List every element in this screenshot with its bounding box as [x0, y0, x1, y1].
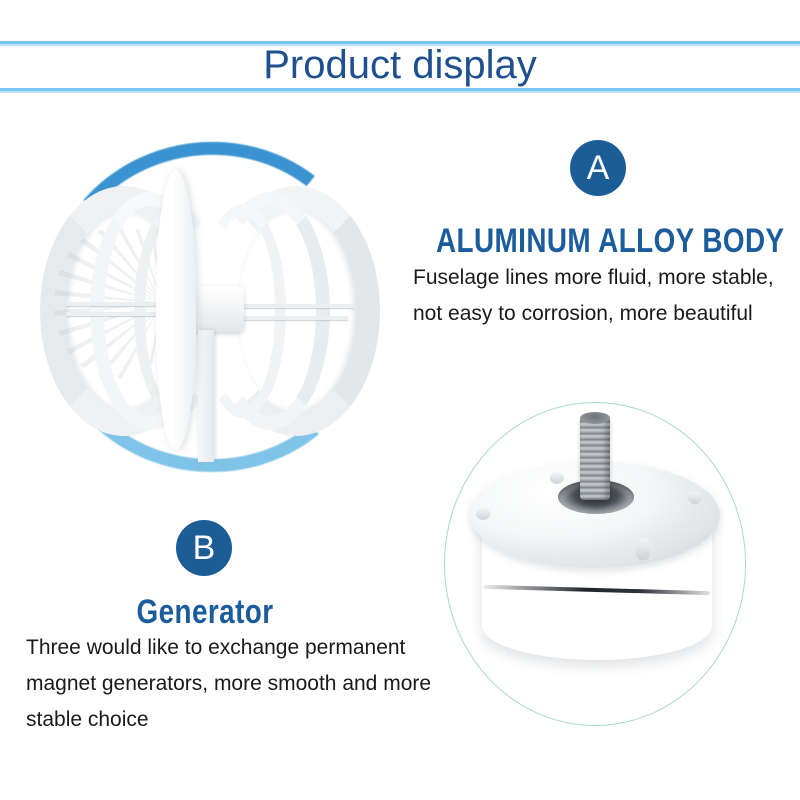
- generator-threaded-shaft: [580, 416, 610, 500]
- badge-a: A: [570, 140, 626, 196]
- feature-a-body-line-2: not easy to corrosion, more beautiful: [413, 302, 753, 326]
- page-title: Product display: [0, 42, 800, 89]
- feature-section-a: A ALUMINUM ALLOY BODY Fuselage lines mor…: [400, 130, 800, 350]
- turbine-blade-front: [156, 170, 196, 450]
- generator-shaft-top: [580, 412, 610, 424]
- wind-turbine-image: [38, 158, 382, 458]
- feature-section-b: B Generator Three would like to exchange…: [0, 500, 460, 750]
- feature-b-body-line-3: stable choice: [26, 708, 149, 732]
- generator-rib-tab: [688, 492, 702, 504]
- feature-a-heading: ALUMINUM ALLOY BODY: [436, 222, 764, 261]
- feature-b-heading: Generator: [37, 593, 373, 632]
- turbine-mast: [198, 330, 214, 462]
- feature-b-body-line-1: Three would like to exchange permanent: [26, 636, 405, 660]
- generator-rib-tab: [550, 472, 564, 484]
- page-header: Product display: [0, 0, 800, 110]
- header-rule-bottom-glow: [0, 91, 800, 93]
- turbine-hub: [188, 286, 244, 332]
- generator-figure: [420, 380, 800, 760]
- turbine-figure: [30, 130, 390, 490]
- generator-rib-tab: [476, 508, 490, 520]
- feature-a-body-line-1: Fuselage lines more fluid, more stable,: [413, 266, 774, 290]
- badge-b: B: [176, 520, 232, 576]
- feature-b-body-line-2: magnet generators, more smooth and more: [26, 672, 431, 696]
- generator-rib-tab: [636, 538, 650, 560]
